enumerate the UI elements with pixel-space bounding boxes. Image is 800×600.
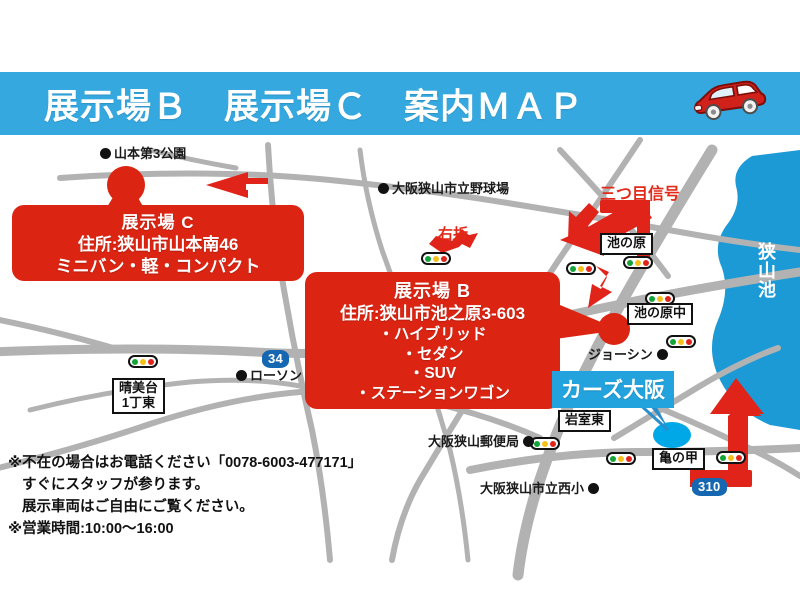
callout-hall-b[interactable]: 展示場 B 住所:狭山市池之原3-603 ・ハイブリッド ・セダン ・SUV ・… [305, 272, 560, 409]
poi-post-office: 大阪狭山郵便局 [428, 431, 534, 450]
poi-yamamoto-park: 山本第3公園 [100, 143, 186, 162]
poi-label: 山本第3公園 [114, 146, 186, 161]
poi-label: 大阪狭山市立野球場 [392, 181, 509, 196]
footer-line-2: すぐにスタッフが参ります。 [8, 474, 362, 496]
intersection-ikenohara-naka: 池の原中 [627, 303, 693, 325]
red-car-icon [686, 78, 772, 129]
poi-label: ジョーシン [588, 347, 653, 362]
footer-line-1: ※不在の場合はお電話ください「0078-6003-477171」 [8, 452, 362, 474]
intersection-label-line1: 池の原 [607, 236, 646, 251]
poi-dot-icon [523, 436, 534, 447]
poi-west-elementary: 大阪狭山市立西小 [480, 478, 599, 497]
cars-osaka-marker [653, 422, 691, 448]
map-page: 展示場Ｂ 展示場Ｃ 案内ＭＡＰ 展示場 [0, 0, 800, 600]
hall-b-vehicle-item: ・ステーションワゴン [305, 384, 560, 404]
poi-dot-icon [657, 349, 668, 360]
label-third-signal: 三つ目信号 [600, 180, 680, 204]
header-banner: 展示場Ｂ 展示場Ｃ 案内ＭＡＰ [0, 72, 800, 135]
poi-dot-icon [588, 483, 599, 494]
traffic-signal-icon [421, 252, 451, 265]
traffic-signal-icon [623, 256, 653, 269]
traffic-signal-icon [128, 355, 158, 368]
intersection-label-line2: 1丁東 [119, 396, 158, 411]
map-canvas: 展示場Ｂ 展示場Ｃ 案内ＭＡＰ 展示場 [0, 0, 800, 600]
poi-joshin: ジョーシン [588, 344, 668, 363]
route-shield-310: 310 [692, 478, 727, 496]
page-title: 展示場Ｂ 展示場Ｃ 案内ＭＡＰ [44, 78, 584, 129]
hall-c-marker [107, 166, 145, 204]
hall-c-name: 展示場 C [12, 212, 304, 234]
intersection-label-line1: 晴美台 [119, 381, 158, 396]
traffic-signal-icon [606, 452, 636, 465]
intersection-label-line1: 池の原中 [634, 306, 686, 321]
poi-dot-icon [100, 148, 111, 159]
label-turn-right: 右折 [438, 223, 468, 244]
poi-label: ローソン [250, 368, 302, 383]
footer-line-4: ※営業時間:10:00～16:00 [8, 518, 362, 540]
hall-b-vehicle-item: ・SUV [305, 364, 560, 384]
hall-b-name: 展示場 B [305, 280, 560, 303]
poi-baseball-stadium: 大阪狭山市立野球場 [378, 178, 509, 197]
intersection-ikenohara: 池の原 [600, 233, 653, 255]
intersection-harumidai: 晴美台 1丁東 [112, 378, 165, 414]
poi-dot-icon [378, 183, 389, 194]
poi-dot-icon [236, 370, 247, 381]
intersection-label-line1: 亀の甲 [659, 451, 698, 466]
hall-c-vehicles: ミニバン・軽・コンパクト [12, 256, 304, 278]
cars-osaka-banner[interactable]: カーズ大阪 [552, 371, 674, 408]
footer-line-3: 展示車両はご自由にご覧ください。 [8, 496, 362, 518]
hall-c-address: 住所:狭山市山本南46 [12, 234, 304, 256]
hall-b-marker [598, 313, 630, 345]
poi-label: 大阪狭山市立西小 [480, 481, 584, 496]
footer-notes: ※不在の場合はお電話ください「0078-6003-477171」 すぐにスタッフ… [8, 452, 362, 540]
hall-b-address: 住所:狭山市池之原3-603 [305, 303, 560, 325]
intersection-label-line1: 岩室東 [565, 413, 604, 428]
traffic-signal-icon [530, 437, 560, 450]
route-shield-34: 34 [262, 350, 289, 368]
traffic-signal-icon [566, 262, 596, 275]
traffic-signal-icon [666, 335, 696, 348]
traffic-signal-icon [716, 451, 746, 464]
intersection-iwamuro-east: 岩室東 [558, 410, 611, 432]
poi-label: 大阪狭山郵便局 [428, 434, 519, 449]
callout-hall-c[interactable]: 展示場 C 住所:狭山市山本南46 ミニバン・軽・コンパクト [12, 205, 304, 281]
lake-label: 狭山池 [757, 243, 777, 300]
hall-b-vehicle-item: ・セダン [305, 345, 560, 365]
lake-shape [712, 150, 800, 430]
hall-b-vehicle-item: ・ハイブリッド [305, 325, 560, 345]
intersection-kamenoko: 亀の甲 [652, 448, 705, 470]
